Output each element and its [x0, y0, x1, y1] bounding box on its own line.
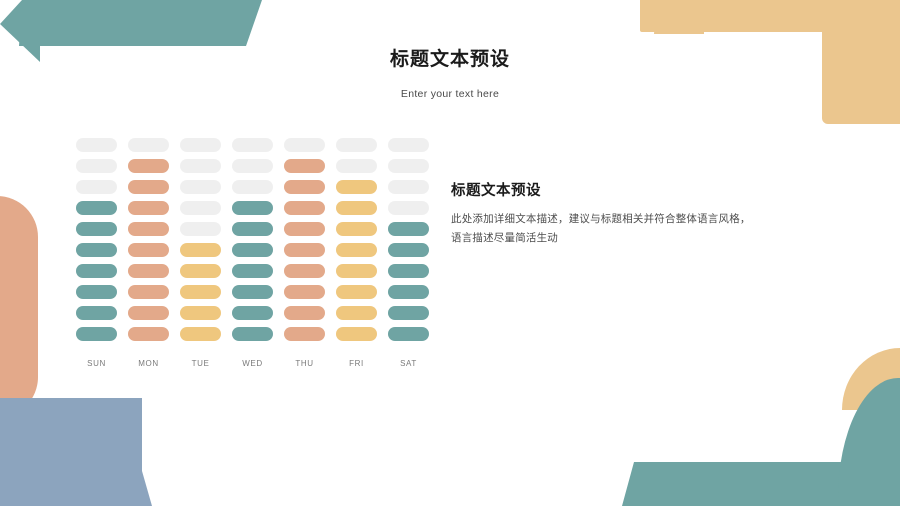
- axis-label-sun: SUN: [76, 359, 117, 368]
- chart-cell-filled: [180, 264, 221, 278]
- chart-cell-filled: [336, 327, 377, 341]
- chart-cell-filled: [232, 243, 273, 257]
- chart-cell-empty: [388, 201, 429, 215]
- axis-label-wed: WED: [232, 359, 273, 368]
- chart-cell-filled: [232, 222, 273, 236]
- chart-cell-filled: [180, 285, 221, 299]
- page-title: 标题文本预设: [0, 44, 900, 71]
- chart-x-axis: SUNMONTUEWEDTHUFRISAT: [76, 359, 429, 368]
- chart-cell-filled: [284, 159, 325, 173]
- chart-cell-empty: [284, 138, 325, 152]
- top-right-tan-curve: [654, 0, 704, 34]
- chart-cell-filled: [284, 201, 325, 215]
- chart-cell-filled: [284, 327, 325, 341]
- top-left-teal-banner: [0, 0, 262, 46]
- chart-cell-empty: [76, 138, 117, 152]
- left-salmon-pill: [0, 196, 38, 418]
- axis-label-sat: SAT: [388, 359, 429, 368]
- bottom-left-blue-grey-block: [0, 398, 142, 506]
- side-panel-body-line-2: 语言描述尽量简活生动: [451, 229, 823, 248]
- chart-cell-filled: [128, 159, 169, 173]
- chart-cell-filled: [284, 306, 325, 320]
- chart-plot-area: [76, 138, 429, 341]
- chart-cell-filled: [388, 264, 429, 278]
- chart-cell-empty: [180, 159, 221, 173]
- bottom-right-tan-arc: [842, 348, 900, 410]
- chart-cell-filled: [388, 327, 429, 341]
- chart-cell-filled: [232, 306, 273, 320]
- chart-cell-filled: [284, 285, 325, 299]
- chart-cell-filled: [76, 264, 117, 278]
- top-right-tan-bar: [640, 0, 900, 32]
- chart-cell-filled: [336, 306, 377, 320]
- chart-cell-empty: [336, 159, 377, 173]
- chart-cell-filled: [128, 222, 169, 236]
- chart-cell-filled: [76, 243, 117, 257]
- chart-cell-filled: [388, 243, 429, 257]
- chart-cell-empty: [180, 180, 221, 194]
- side-panel-title: 标题文本预设: [451, 179, 823, 200]
- chart-cell-empty: [180, 201, 221, 215]
- chart-cell-empty: [336, 138, 377, 152]
- chart-cell-filled: [336, 180, 377, 194]
- chart-cell-filled: [180, 327, 221, 341]
- chart-cell-empty: [232, 180, 273, 194]
- chart-cell-empty: [180, 222, 221, 236]
- chart-cell-empty: [388, 180, 429, 194]
- header: 标题文本预设 Enter your text here: [0, 44, 900, 100]
- chart-cell-filled: [232, 264, 273, 278]
- chart-cell-filled: [128, 306, 169, 320]
- chart-cell-filled: [388, 285, 429, 299]
- side-panel-body-line-1: 此处添加详细文本描述，建议与标题相关并符合整体语言风格，: [451, 210, 823, 229]
- chart-column-sat: [388, 138, 429, 341]
- page-subtitle: Enter your text here: [0, 88, 900, 100]
- side-panel-body: 此处添加详细文本描述，建议与标题相关并符合整体语言风格， 语言描述尽量简活生动: [451, 210, 823, 249]
- chart-cell-filled: [128, 285, 169, 299]
- axis-label-mon: MON: [128, 359, 169, 368]
- chart-cell-filled: [336, 201, 377, 215]
- chart-column-tue: [180, 138, 221, 341]
- chart-cell-filled: [128, 264, 169, 278]
- chart-cell-filled: [284, 264, 325, 278]
- chart-column-fri: [336, 138, 377, 341]
- chart-cell-empty: [180, 138, 221, 152]
- chart-cell-filled: [76, 306, 117, 320]
- chart-column-wed: [232, 138, 273, 341]
- chart-cell-filled: [336, 285, 377, 299]
- chart-cell-filled: [336, 243, 377, 257]
- bottom-left-blue-grey-foot: [0, 464, 152, 506]
- chart-cell-empty: [388, 159, 429, 173]
- chart-cell-filled: [388, 222, 429, 236]
- chart-cell-filled: [180, 306, 221, 320]
- chart-cell-filled: [76, 327, 117, 341]
- chart-cell-empty: [232, 159, 273, 173]
- chart-cell-empty: [388, 138, 429, 152]
- chart-cell-filled: [284, 222, 325, 236]
- chart-cell-empty: [76, 159, 117, 173]
- chart-cell-filled: [284, 243, 325, 257]
- segmented-bar-chart: SUNMONTUEWEDTHUFRISAT: [76, 138, 429, 368]
- chart-column-thu: [284, 138, 325, 341]
- chart-cell-filled: [128, 180, 169, 194]
- chart-cell-filled: [76, 201, 117, 215]
- chart-cell-empty: [128, 138, 169, 152]
- chart-column-sun: [76, 138, 117, 341]
- chart-cell-filled: [284, 180, 325, 194]
- chart-cell-filled: [76, 222, 117, 236]
- axis-label-fri: FRI: [336, 359, 377, 368]
- chart-cell-filled: [128, 201, 169, 215]
- axis-label-tue: TUE: [180, 359, 221, 368]
- chart-cell-filled: [128, 243, 169, 257]
- chart-cell-empty: [76, 180, 117, 194]
- side-text-block: 标题文本预设 此处添加详细文本描述，建议与标题相关并符合整体语言风格， 语言描述…: [451, 179, 823, 249]
- chart-cell-filled: [180, 243, 221, 257]
- chart-cell-filled: [336, 264, 377, 278]
- chart-column-mon: [128, 138, 169, 341]
- bottom-right-teal-leg: [838, 378, 900, 506]
- chart-cell-filled: [76, 285, 117, 299]
- chart-cell-filled: [336, 222, 377, 236]
- chart-cell-filled: [232, 201, 273, 215]
- chart-cell-filled: [232, 285, 273, 299]
- chart-cell-filled: [232, 327, 273, 341]
- chart-cell-filled: [388, 306, 429, 320]
- bottom-right-teal-bar: [622, 462, 900, 506]
- chart-cell-empty: [232, 138, 273, 152]
- chart-cell-filled: [128, 327, 169, 341]
- axis-label-thu: THU: [284, 359, 325, 368]
